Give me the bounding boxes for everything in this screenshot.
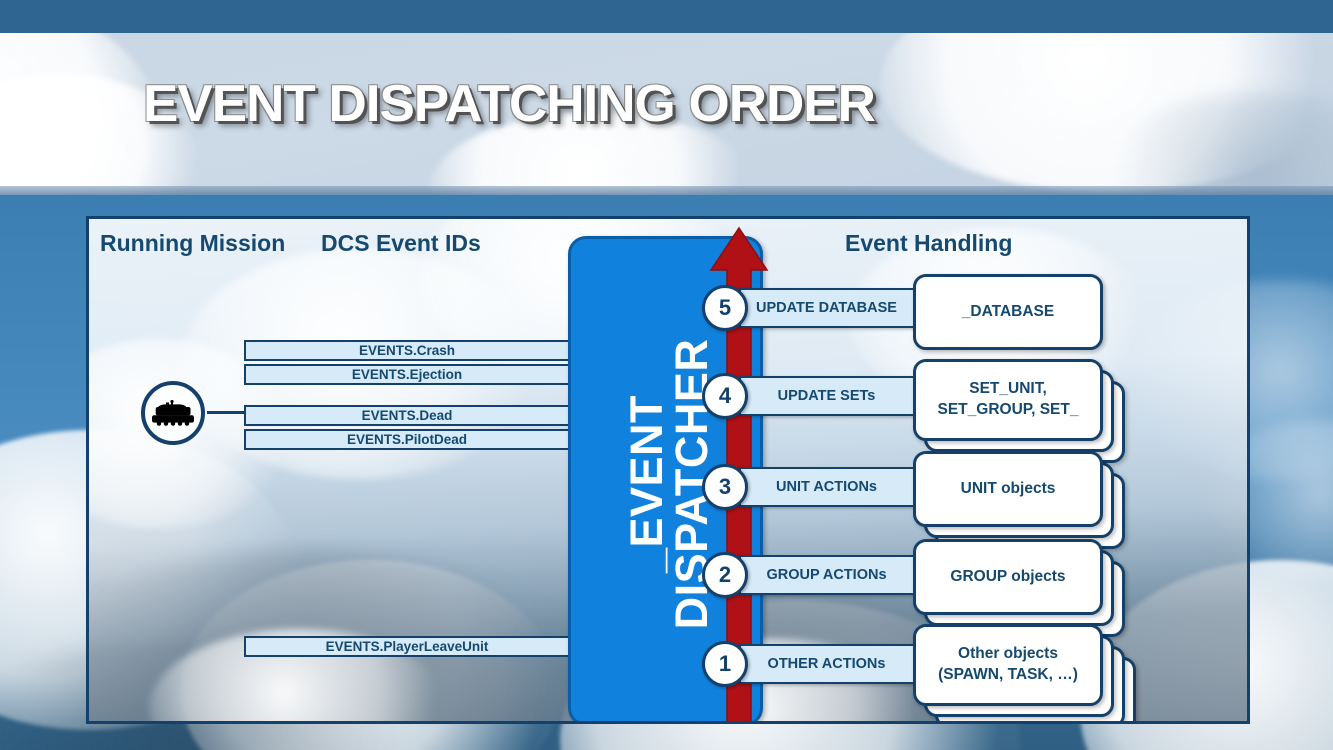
target-object-box[interactable]: UNIT objects — [913, 451, 1103, 527]
step-action-arrow[interactable]: UNIT ACTIONs — [739, 467, 924, 507]
step-number-badge: 3 — [702, 464, 748, 510]
target-object-label: GROUP objects — [950, 567, 1065, 588]
target-object-label: _DATABASE — [962, 302, 1054, 323]
event-id-label: EVENTS.Crash — [359, 343, 455, 358]
step-action-arrow[interactable]: OTHER ACTIONs — [739, 644, 924, 684]
target-object-box[interactable]: _DATABASE — [913, 274, 1103, 350]
step-action-label: UPDATE SETs — [778, 388, 876, 404]
column-header-running-mission: Running Mission — [100, 230, 285, 257]
slide-canvas: EVENT DISPATCHING ORDER Running Mission … — [0, 0, 1333, 750]
target-object-box[interactable]: SET_UNIT,SET_GROUP, SET_ — [913, 359, 1103, 441]
target-object-label: UNIT objects — [961, 479, 1056, 500]
step-number-badge: 1 — [702, 641, 748, 687]
target-object-label-secondary: (SPAWN, TASK, …) — [938, 665, 1078, 686]
event-id-label: EVENTS.PilotDead — [347, 432, 467, 447]
page-title: EVENT DISPATCHING ORDER — [143, 74, 875, 134]
column-header-event-handling: Event Handling — [845, 230, 1012, 257]
step-action-label: OTHER ACTIONs — [768, 656, 886, 672]
step-number-badge: 4 — [702, 373, 748, 419]
step-action-label: UPDATE DATABASE — [756, 300, 897, 316]
target-object-box[interactable]: Other objects(SPAWN, TASK, …) — [913, 624, 1103, 706]
target-object-label-secondary: SET_GROUP, SET_ — [938, 400, 1079, 421]
step-action-label: GROUP ACTIONs — [766, 567, 886, 583]
banner-bottom-edge — [0, 186, 1333, 195]
step-action-arrow[interactable]: UPDATE SETs — [739, 376, 924, 416]
step-action-label: UNIT ACTIONs — [776, 479, 877, 495]
diagram-panel: Running Mission DCS Event IDs Event Hand… — [86, 216, 1250, 724]
top-accent-bar — [0, 0, 1333, 33]
step-number-badge: 2 — [702, 552, 748, 598]
column-header-dcs-event-ids: DCS Event IDs — [321, 230, 481, 257]
step-action-arrow[interactable]: UPDATE DATABASE — [739, 288, 924, 328]
target-object-label: SET_UNIT, — [938, 379, 1079, 400]
target-object-box[interactable]: GROUP objects — [913, 539, 1103, 615]
event-id-arrow[interactable]: EVENTS.Crash — [244, 340, 576, 361]
target-object-label: Other objects — [938, 644, 1078, 665]
event-id-arrow[interactable]: EVENTS.PilotDead — [244, 429, 576, 450]
step-action-arrow[interactable]: GROUP ACTIONs — [739, 555, 924, 595]
step-number-badge: 5 — [702, 285, 748, 331]
